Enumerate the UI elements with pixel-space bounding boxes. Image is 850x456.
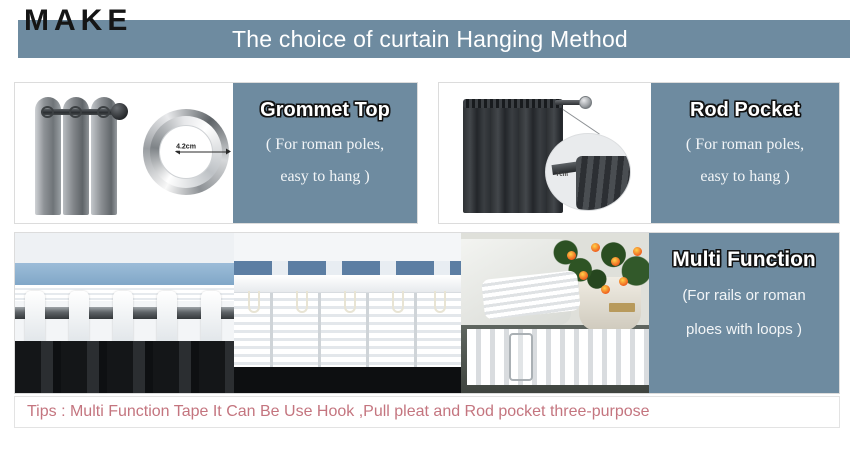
fabric-loop — [201, 291, 221, 347]
curtain-hook-icon — [344, 291, 356, 313]
dark-curtain-body — [234, 367, 461, 393]
fabric-loop — [69, 291, 89, 347]
tips-bar: Tips : Multi Function Tape It Can Be Use… — [14, 396, 840, 428]
callout-leader-line — [563, 109, 600, 134]
metal-hooks-icon — [509, 333, 533, 381]
rod-pocket-illustration: 7cm — [459, 91, 645, 215]
rod-pocket-sub-line1: ( For roman poles, — [651, 129, 839, 161]
page-title: The choice of curtain Hanging Method — [175, 22, 685, 56]
curtain-hook-icon — [296, 291, 308, 313]
flower-bloom-icon — [619, 277, 628, 286]
rod-pocket-closeup: 7cm — [545, 133, 631, 211]
flower-bloom-icon — [633, 247, 642, 256]
multi-function-title: Multi Function — [649, 245, 839, 275]
ring-dimension-label: 4.2cm — [174, 144, 198, 151]
multi-function-tape-photo — [461, 233, 649, 393]
flower-bloom-icon — [591, 243, 600, 252]
blue-valance — [234, 261, 461, 275]
dimension-arrow-icon — [180, 152, 226, 153]
multi-function-sub-line1: (For rails or roman — [649, 279, 839, 313]
multi-function-label-panel: Multi Function (For rails or roman ploes… — [649, 233, 839, 393]
rod-pocket-sub-line2: easy to hang ) — [651, 161, 839, 193]
fabric-loop — [113, 291, 133, 347]
tape-seam — [414, 293, 417, 367]
curtain-hook-icon — [434, 291, 446, 313]
closeup-fabric — [576, 156, 631, 210]
grommet-top-sub-line1: ( For roman poles, — [233, 129, 417, 161]
grommet-top-title: Grommet Top — [233, 95, 417, 125]
rod-pocket-gather — [463, 99, 563, 108]
pleat-tape-spread — [467, 329, 649, 385]
pocket-dimension-label: 7cm — [556, 172, 568, 179]
grommet-eyelet-icon — [69, 106, 82, 118]
rod-finial-icon — [111, 103, 128, 120]
card-grommet-top: 4.2cm Grommet Top ( For roman poles, eas… — [14, 82, 418, 224]
multi-function-sub-line2: ploes with loops ) — [649, 313, 839, 347]
rod-pocket-photo: 7cm — [439, 83, 651, 223]
multi-function-loops-photo — [15, 233, 234, 393]
fabric-loop — [25, 291, 45, 347]
tape-seam — [366, 293, 369, 367]
flower-bloom-icon — [567, 251, 576, 260]
infographic-page: The choice of curtain Hanging Method MAK… — [0, 0, 850, 456]
fabric-loop — [157, 291, 177, 347]
rod-pocket-title: Rod Pocket — [651, 95, 839, 125]
grommet-curtain-illustration — [33, 91, 133, 215]
grommet-top-sub-line2: easy to hang ) — [233, 161, 417, 193]
blue-valance — [15, 263, 234, 287]
header: The choice of curtain Hanging Method MAK… — [0, 0, 850, 72]
grommet-eyelet-icon — [97, 106, 110, 118]
flower-bloom-icon — [611, 257, 620, 266]
dark-curtain-body — [15, 341, 234, 393]
curtain-hook-icon — [392, 291, 404, 313]
section-multi-function: Multi Function (For rails or roman ploes… — [14, 232, 840, 394]
flower-bloom-icon — [601, 285, 610, 294]
tape-seam — [270, 293, 273, 367]
grommet-eyelet-icon — [41, 106, 54, 118]
grommet-ring-closeup: 4.2cm — [143, 109, 229, 195]
pot-label-tag — [609, 303, 635, 312]
card-rod-pocket: 7cm Rod Pocket ( For roman poles, easy t… — [438, 82, 840, 224]
grommet-top-label-panel: Grommet Top ( For roman poles, easy to h… — [233, 83, 417, 223]
curtain-hook-icon — [248, 291, 260, 313]
grommet-top-photo: 4.2cm — [15, 83, 233, 223]
brand-logo: MAKE — [24, 4, 132, 38]
rod-finial-icon — [579, 96, 592, 109]
photo-wall — [15, 233, 234, 267]
tips-text: Tips : Multi Function Tape It Can Be Use… — [27, 397, 650, 427]
flower-bloom-icon — [579, 271, 588, 280]
multi-function-hooks-photo — [234, 233, 461, 393]
tape-seam — [318, 293, 321, 367]
ring-inner: 4.2cm — [159, 125, 213, 179]
rod-pocket-label-panel: Rod Pocket ( For roman poles, easy to ha… — [651, 83, 839, 223]
